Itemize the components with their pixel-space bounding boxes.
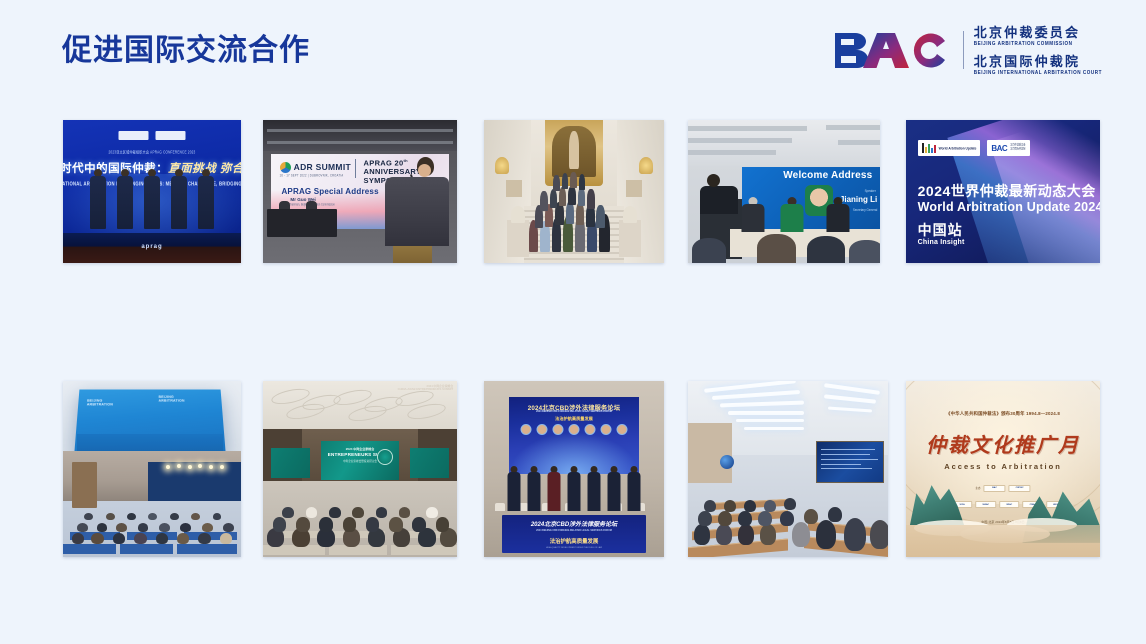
corner-watermark-en: CHINA-ARAB ENTREPRENEURS SUMMIT bbox=[398, 387, 453, 391]
photo-world-arbitration-update-2024[interactable]: World Arbitration Update BAC 北京仲裁委员会北京国际… bbox=[906, 120, 1100, 263]
backdrop-subtitle: 2023亚太区域仲裁组织大会 APRAG CONFERENCE 2023 bbox=[109, 148, 196, 155]
photo-beijing-cbd-legal-services-forum[interactable]: 2024北京CBD涉外法律服务论坛 2024 BEIJING CBD FOREI… bbox=[484, 381, 664, 557]
poster-base-gradient bbox=[906, 525, 1100, 557]
welcome-address-title: Welcome Address bbox=[783, 170, 872, 181]
screen-line-3: 中阿企业家峰会暨投资研讨会 bbox=[343, 459, 377, 463]
banner-subtitle-cn: 法治护航高质量发展 bbox=[550, 537, 599, 545]
photo-china-arab-entrepreneurs-summit[interactable]: 2024 中阿企业家峰会 CHINA-ARAB ENTREPRENEURS SU… bbox=[263, 381, 457, 557]
poster-station-en: China Insight bbox=[918, 239, 965, 246]
wall-sconce-left-icon bbox=[495, 157, 509, 174]
slide-canvas: 促进国际交流合作 bbox=[0, 0, 1146, 644]
event-ordinal: th bbox=[403, 158, 407, 163]
co-organizer-row: 支持单位 SCIA SHIAC WIAC CMAC HKIAC bbox=[939, 501, 1067, 509]
adr-ring-icon bbox=[280, 162, 291, 173]
poster-title-cn: 仲裁文化推广月 bbox=[926, 429, 1080, 458]
organizer-logo-chip: CIETAC bbox=[1009, 485, 1031, 492]
panel-speakers bbox=[484, 466, 664, 512]
audience-area bbox=[688, 455, 888, 557]
lecturer-body bbox=[700, 186, 738, 215]
logo-text-block: 北京仲裁委员会 BEIJING ARBITRATION COMMISSION 北… bbox=[974, 25, 1102, 75]
bac-wordmark-small: BAC bbox=[991, 144, 1007, 153]
audience-area bbox=[63, 487, 241, 557]
plaque-left bbox=[506, 180, 522, 197]
poster-title-en: World Arbitration Update 2024 bbox=[918, 200, 1100, 214]
poster-header: 《中华人民共和国仲裁法》颁布30周年 1994.8—2024.8 bbox=[946, 411, 1060, 417]
ceiling bbox=[263, 120, 457, 151]
organizer-row: 主办 BAC CIETAC bbox=[975, 485, 1030, 492]
adr-summit-wordmark: ADR SUMMIT bbox=[294, 162, 351, 172]
speaker-body bbox=[385, 177, 449, 246]
poster-title-en: Access to Arbitration bbox=[944, 462, 1062, 471]
page-title: 促进国际交流合作 bbox=[62, 32, 310, 70]
screen-speaker-portraits bbox=[520, 424, 627, 435]
logo-cn-line-1: 北京仲裁委员会 bbox=[974, 25, 1102, 40]
banner-title-cn: 2024北京CBD涉外法律服务论坛 bbox=[531, 519, 617, 528]
plinth-right bbox=[619, 220, 641, 257]
ceiling bbox=[688, 120, 880, 166]
logo-en-line-1: BEIJING ARBITRATION COMMISSION bbox=[974, 40, 1102, 48]
screen-subtitle-cn: 法治护航高质量发展 bbox=[555, 416, 593, 422]
plinth-left bbox=[507, 220, 529, 257]
organizer-logo-chip: BAC bbox=[984, 485, 1006, 492]
poster-title-cn: 2024世界仲裁最新动态大会 bbox=[918, 181, 1096, 201]
plaque-right bbox=[626, 180, 642, 197]
stage-officials bbox=[63, 169, 241, 229]
photo-aprag-conference-2023[interactable]: 2023亚太区域仲裁组织大会 APRAG CONFERENCE 2023 变革时… bbox=[63, 120, 241, 263]
bac-logo: 北京仲裁委员会 BEIJING ARBITRATION COMMISSION 北… bbox=[833, 27, 1102, 73]
summit-seal-icon bbox=[377, 449, 393, 465]
screen-line-1: 2024 中阿企业家峰会 bbox=[346, 447, 375, 451]
wau-mark-icon bbox=[922, 143, 936, 153]
photo-lecture-hall-session[interactable] bbox=[688, 381, 888, 557]
photo-arbitration-culture-month[interactable]: 《中华人民共和国仲裁法》颁布30周年 1994.8—2024.8 仲裁文化推广月… bbox=[906, 381, 1100, 557]
photo-group-photo-staircase[interactable] bbox=[484, 120, 664, 263]
photo-plenary-hall-cube-screen[interactable]: BEIJINGARBITRATION BEIJINGARBITRATION bbox=[63, 381, 241, 557]
stage-front-banner: 2024北京CBD涉外法律服务论坛 2024 BEIJING CBD FOREI… bbox=[502, 515, 646, 554]
logo-cn-line-2: 北京国际仲裁院 bbox=[974, 54, 1102, 69]
logo-en-line-2: BEIJING INTERNATIONAL ARBITRATION COURT bbox=[974, 69, 1102, 77]
bac-wordmark-icon bbox=[833, 29, 951, 71]
screen-title-en: 2024 BEIJING CBD FOREIGN-RELATED LEGAL S… bbox=[536, 410, 612, 413]
foreground-audience bbox=[688, 234, 880, 263]
speaker-label: Speaker bbox=[865, 188, 876, 193]
bac-logo-small: BAC 北京仲裁委员会北京国际仲裁院 bbox=[987, 140, 1029, 156]
photo-adr-summit-aprag-20th[interactable]: ADR SUMMIT 16 - 17 SEPT 2022 | DUBROVNIK… bbox=[263, 120, 457, 263]
supporter-logo-chip: SHIAC bbox=[975, 501, 996, 508]
panelist bbox=[742, 197, 765, 231]
wau-logo: World Arbitration Update bbox=[918, 140, 981, 156]
bac-logo-subtext: 北京仲裁委员会北京国际仲裁院 bbox=[1010, 144, 1025, 151]
side-table bbox=[267, 209, 337, 238]
event-name: APRAG 20 bbox=[364, 158, 404, 167]
wall-sconce-right-icon bbox=[639, 157, 653, 174]
wau-logo-text: World Arbitration Update bbox=[939, 146, 977, 151]
adr-summit-logo: ADR SUMMIT bbox=[280, 162, 351, 173]
photo-welcome-address-panel[interactable]: Welcome Address Speaker Jianing Li Secre… bbox=[688, 120, 880, 263]
logo-divider bbox=[963, 31, 964, 69]
banner-title-en: 2024 BEIJING CBD FOREIGN-RELATED LEGAL S… bbox=[536, 529, 612, 532]
adr-summit-subline: 16 - 17 SEPT 2022 | DUBROVNIK, CROATIA bbox=[280, 174, 344, 178]
speaker-role: Secretary General bbox=[853, 207, 877, 212]
corner-watermark: 2024 中阿企业家峰会 CHINA-ARAB ENTREPRENEURS SU… bbox=[398, 385, 453, 393]
delegation-group bbox=[527, 163, 621, 252]
supporter-logo-chip: WIAC bbox=[999, 501, 1020, 508]
banner-subtitle-en: HIGH-QUALITY DEVELOPMENT UNDER THE RULE … bbox=[546, 547, 602, 549]
backdrop-logos bbox=[119, 131, 186, 140]
organizer-label: 主办 bbox=[975, 486, 980, 490]
panelist bbox=[780, 197, 803, 231]
main-led-screen: 2024北京CBD涉外法律服务论坛 2024 BEIJING CBD FOREI… bbox=[509, 397, 639, 474]
lion-statue-left bbox=[511, 206, 525, 223]
poster-station-cn: 中国站 bbox=[918, 220, 963, 240]
audience-area bbox=[263, 473, 457, 557]
panelist bbox=[826, 197, 849, 231]
poster-logos: World Arbitration Update BAC 北京仲裁委员会北京国际… bbox=[918, 140, 1030, 156]
lion-statue-right bbox=[623, 206, 637, 223]
stage-logo-text: aprag bbox=[141, 244, 162, 250]
session-title: APRAG Special Address bbox=[281, 187, 378, 196]
